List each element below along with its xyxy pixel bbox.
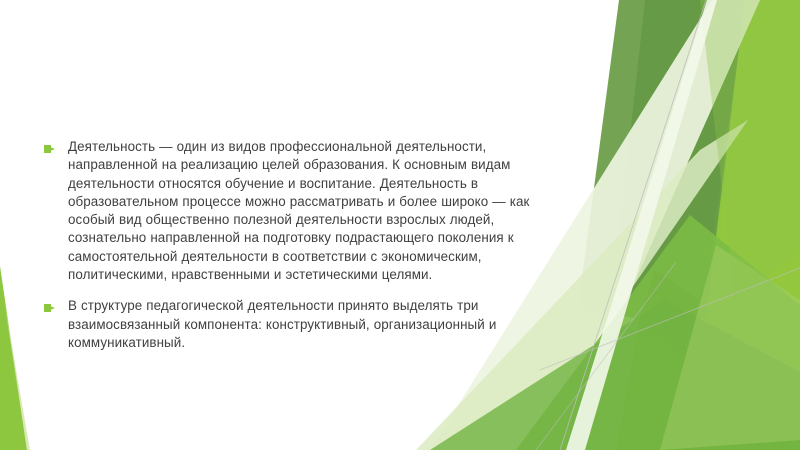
bullet-text: В структуре педагогической деятельности … [68,297,556,352]
arrow-bullet-icon [44,138,68,153]
list-item: В структуре педагогической деятельности … [44,297,556,352]
presentation-slide: Деятельность — один из видов профессиона… [0,0,800,450]
slide-body-content: Деятельность — один из видов профессиона… [44,138,556,352]
arrow-bullet-icon [44,297,68,312]
bullet-text: Деятельность — один из видов профессиона… [68,138,556,284]
list-item: Деятельность — один из видов профессиона… [44,138,556,284]
